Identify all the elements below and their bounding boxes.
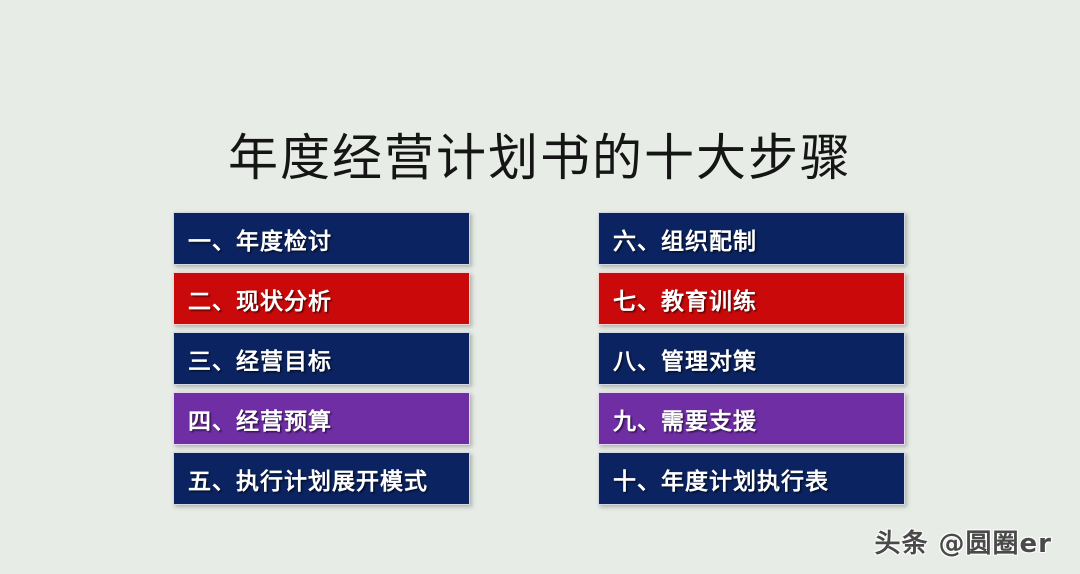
step-item-label: 八、管理对策 [613,342,757,376]
step-item-label: 五、执行计划展开模式 [188,462,428,496]
step-item-6[interactable]: 六、组织配制 [598,212,905,265]
step-item-label: 十、年度计划执行表 [613,462,829,496]
watermark-label: 头条 @圆圈er [874,523,1052,560]
step-item-10[interactable]: 十、年度计划执行表 [598,452,905,505]
step-item-label: 七、教育训练 [613,282,757,316]
step-item-7[interactable]: 七、教育训练 [598,272,905,325]
slide-canvas: 年度经营计划书的十大步骤 一、年度检讨 二、现状分析 三、经营目标 四、经营预算… [0,0,1080,574]
steps-column-left: 一、年度检讨 二、现状分析 三、经营目标 四、经营预算 五、执行计划展开模式 [173,212,470,505]
step-item-label: 三、经营目标 [188,342,332,376]
step-item-label: 一、年度检讨 [188,222,332,256]
step-item-4[interactable]: 四、经营预算 [173,392,470,445]
step-item-8[interactable]: 八、管理对策 [598,332,905,385]
step-item-label: 六、组织配制 [613,222,757,256]
steps-column-right: 六、组织配制 七、教育训练 八、管理对策 九、需要支援 十、年度计划执行表 [598,212,905,505]
step-item-label: 二、现状分析 [188,282,332,316]
step-item-label: 四、经营预算 [188,402,332,436]
step-item-2[interactable]: 二、现状分析 [173,272,470,325]
step-item-label: 九、需要支援 [613,402,757,436]
step-item-9[interactable]: 九、需要支援 [598,392,905,445]
page-title: 年度经营计划书的十大步骤 [0,130,1080,188]
step-item-5[interactable]: 五、执行计划展开模式 [173,452,470,505]
step-item-3[interactable]: 三、经营目标 [173,332,470,385]
step-item-1[interactable]: 一、年度检讨 [173,212,470,265]
